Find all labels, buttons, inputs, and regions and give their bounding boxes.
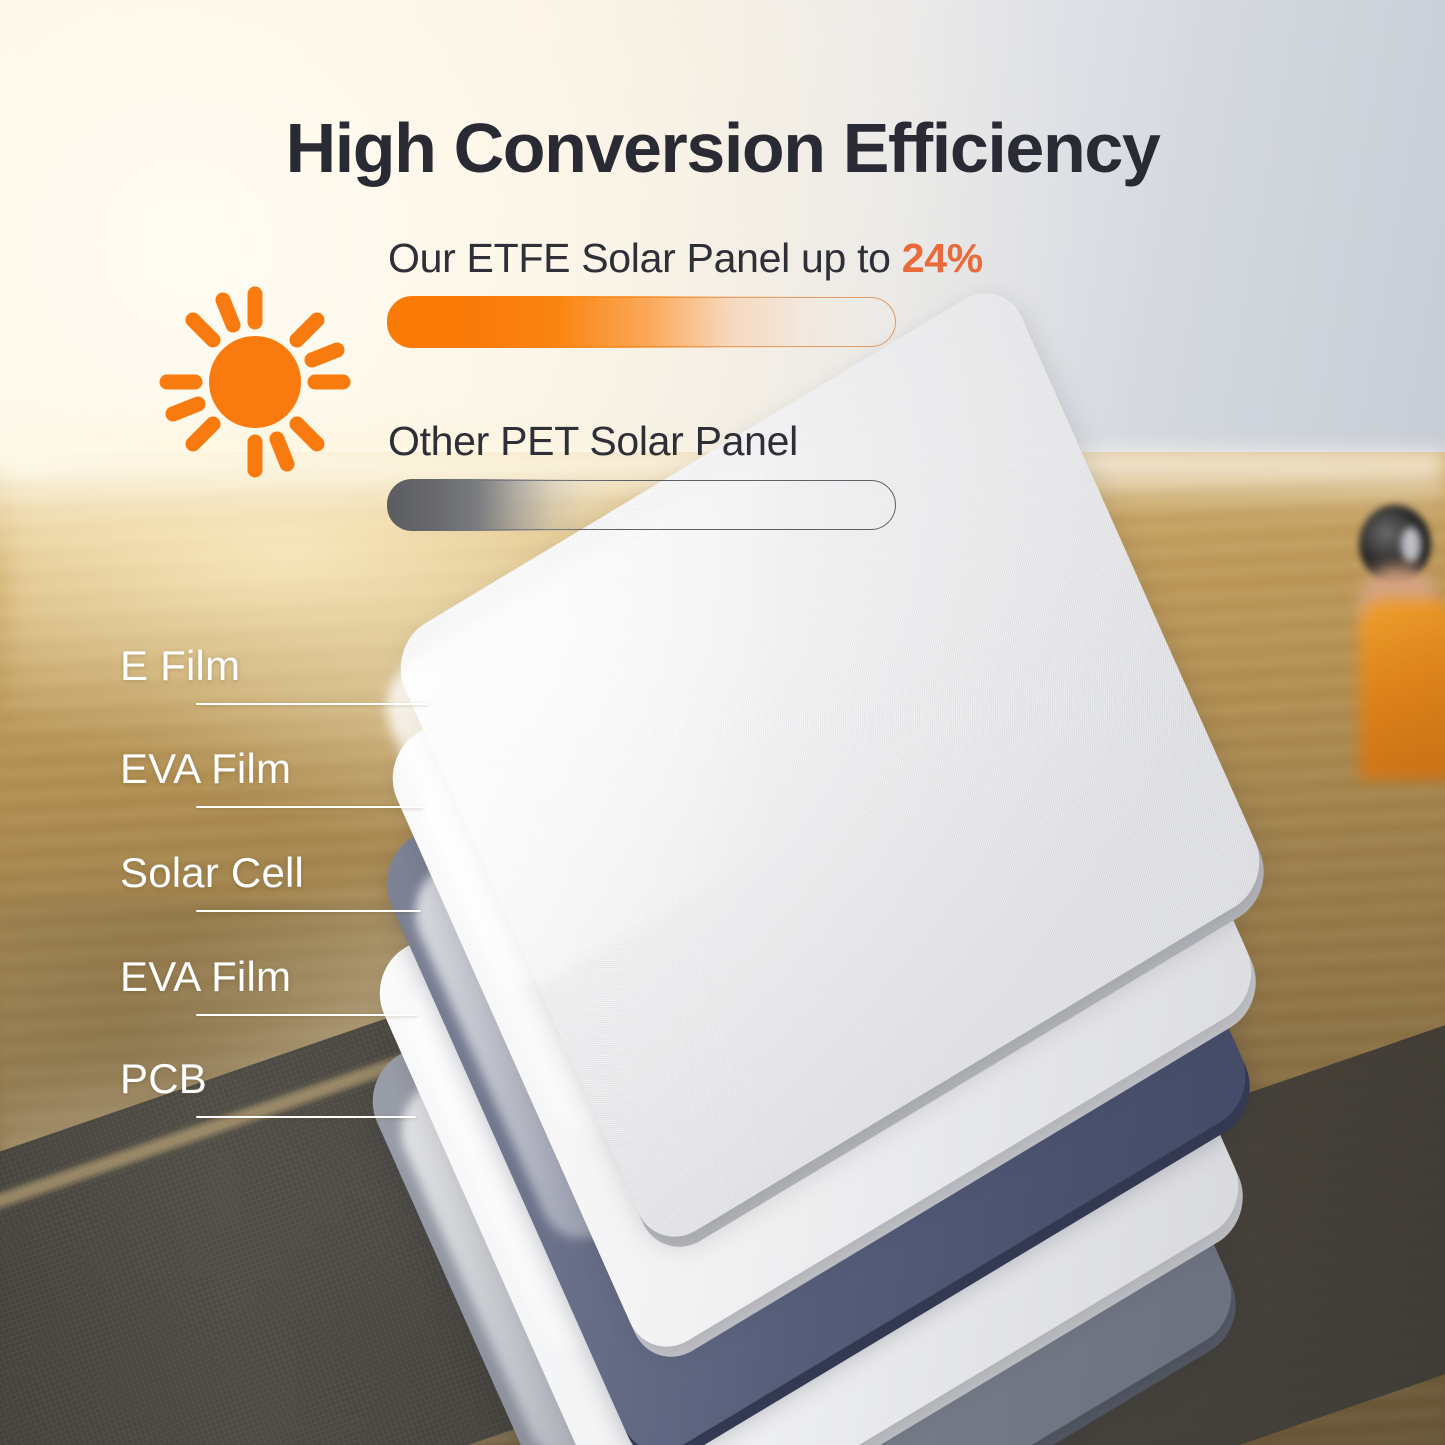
- etfe-efficiency-bar: [388, 297, 896, 347]
- layer-callouts: E Film EVA Film Solar Cell EVA Film PCB: [0, 0, 1445, 1445]
- page-title: High Conversion Efficiency: [0, 108, 1445, 188]
- etfe-label-text: Our ETFE Solar Panel up to: [388, 235, 902, 281]
- layer-leader-line: [196, 703, 428, 705]
- pet-label-text: Other PET Solar Panel: [388, 418, 798, 464]
- pet-efficiency-bar: [388, 480, 896, 530]
- sun-icon: [155, 282, 355, 482]
- efficiency-comparison: Our ETFE Solar Panel up to 24% Other PET…: [388, 238, 1098, 530]
- etfe-bar-label: Our ETFE Solar Panel up to 24%: [388, 238, 1098, 279]
- layer-leader-line: [196, 1014, 418, 1016]
- layer-label: Solar Cell: [120, 852, 304, 894]
- layer-callout-pcb: PCB: [120, 1058, 207, 1100]
- layer-callout-solar-cell: Solar Cell: [120, 852, 304, 894]
- pet-bar-label: Other PET Solar Panel: [388, 421, 1098, 462]
- pet-bar-fill: [387, 479, 892, 530]
- layer-callout-eva-film-lower: EVA Film: [120, 956, 291, 998]
- layer-callout-eva-film-upper: EVA Film: [120, 748, 291, 790]
- layer-label: EVA Film: [120, 748, 291, 790]
- product-feature-image: E Film EVA Film Solar Cell EVA Film PCB …: [0, 0, 1445, 1445]
- etfe-bar-fill: [387, 296, 892, 347]
- layer-leader-line: [196, 910, 421, 912]
- layer-label: E Film: [120, 645, 240, 687]
- layer-label: EVA Film: [120, 956, 291, 998]
- layer-callout-e-film: E Film: [120, 645, 240, 687]
- layer-leader-line: [196, 1116, 416, 1118]
- layer-leader-line: [196, 806, 424, 808]
- layer-label: PCB: [120, 1058, 207, 1100]
- comparison-row-etfe: Our ETFE Solar Panel up to 24%: [388, 238, 1098, 347]
- etfe-efficiency-value: 24%: [902, 235, 983, 281]
- comparison-row-pet: Other PET Solar Panel: [388, 421, 1098, 530]
